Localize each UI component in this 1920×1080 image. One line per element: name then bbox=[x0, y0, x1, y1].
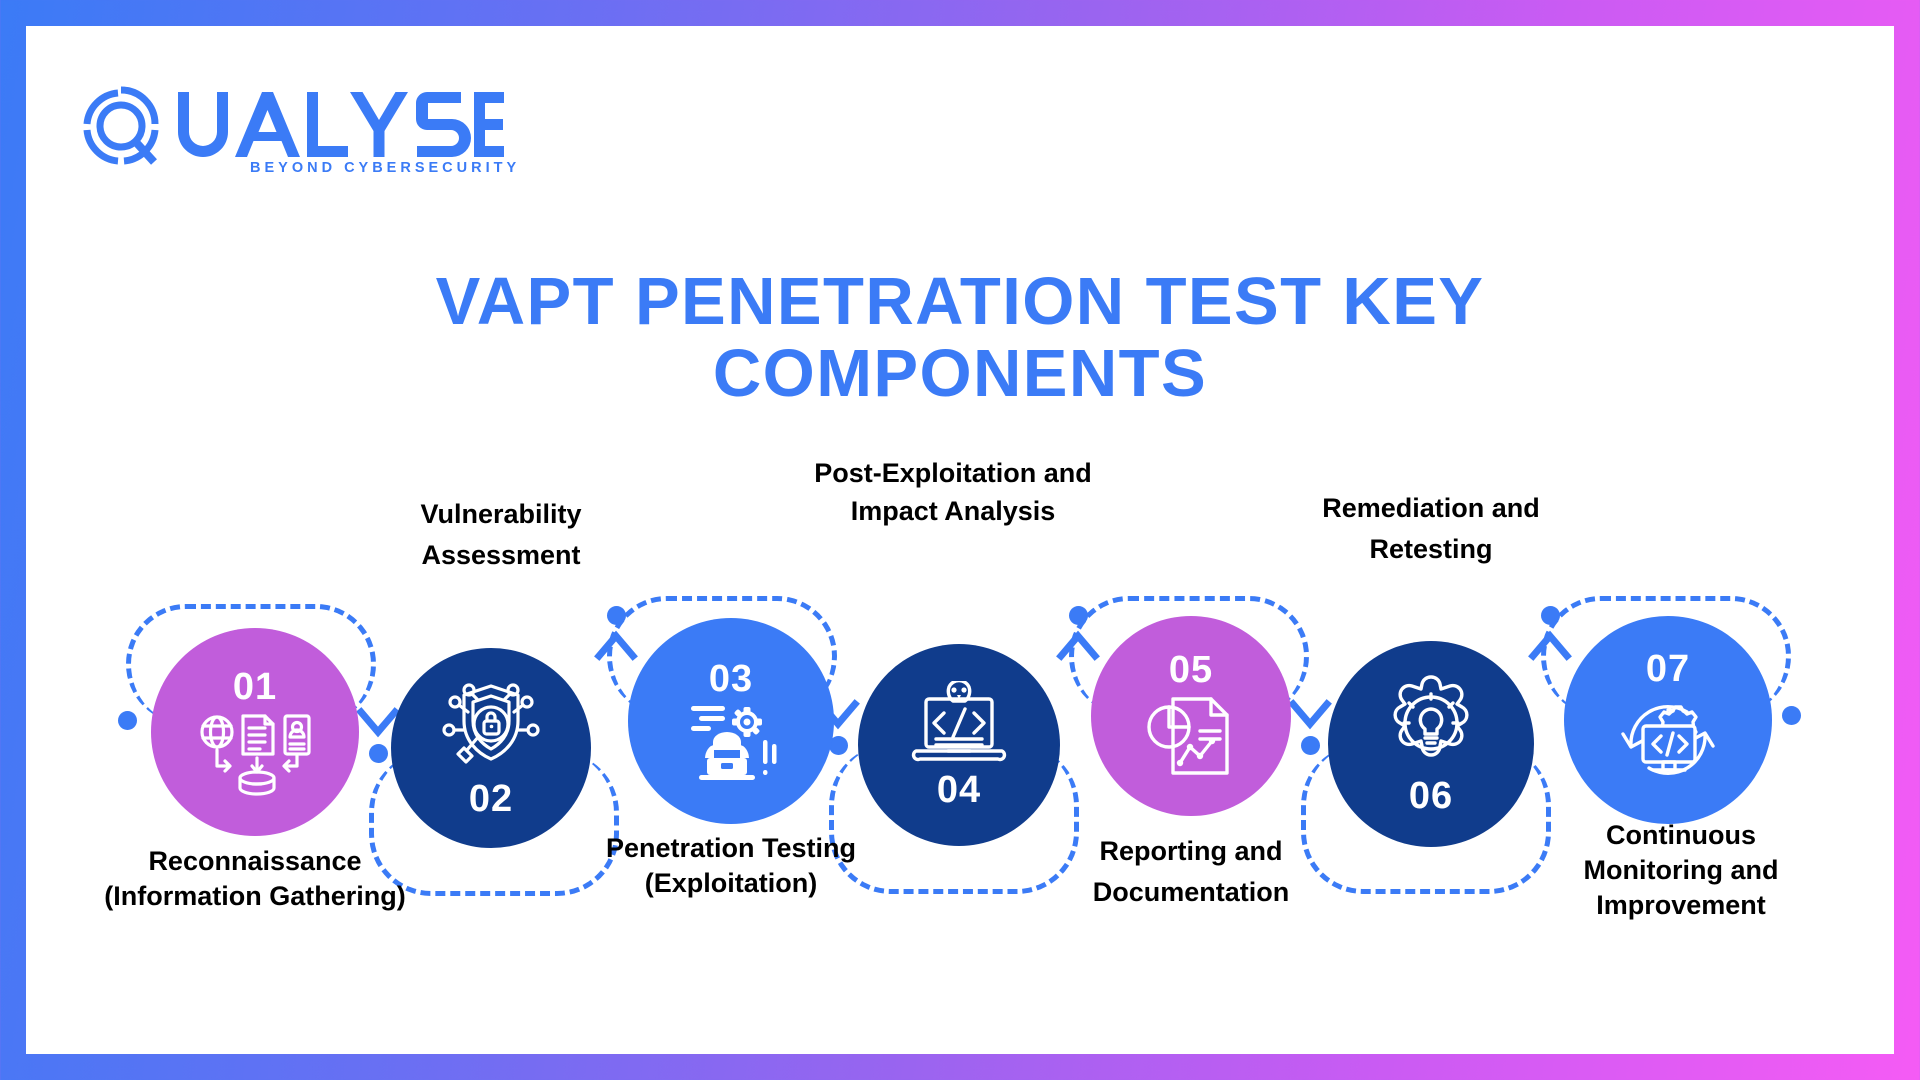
step-06-number: 06 bbox=[1409, 777, 1453, 815]
step-07-number: 07 bbox=[1646, 650, 1690, 688]
step-02-label: Vulnerability Assessment bbox=[366, 494, 636, 575]
step-01-label: Reconnaissance (Information Gathering) bbox=[94, 844, 416, 914]
hacker-laptop-gear-icon bbox=[679, 700, 783, 782]
step-04-bubble[interactable]: 04 bbox=[858, 644, 1060, 846]
content-card: BEYOND CYBERSECURITY VAPT PENETRATION TE… bbox=[26, 26, 1894, 1054]
step-07-label: Continuous Monitoring and Improvement bbox=[1536, 818, 1826, 923]
step-03-bubble[interactable]: 03 bbox=[628, 618, 834, 824]
step-05-bubble[interactable]: 05 bbox=[1091, 616, 1291, 816]
laptop-code-skull-icon bbox=[904, 681, 1014, 767]
page-title-line1: VAPT PENETRATION TEST KEY bbox=[436, 264, 1485, 339]
step-05-number: 05 bbox=[1169, 651, 1213, 689]
step-07-bubble[interactable]: 07 bbox=[1564, 616, 1772, 824]
page-title-line2: COMPONENTS bbox=[26, 338, 1894, 410]
qualysec-q-mark-icon bbox=[78, 84, 164, 175]
logo-tagline: BEYOND CYBERSECURITY bbox=[250, 160, 520, 176]
qualysec-wordmark bbox=[174, 90, 504, 163]
step-02-bubble[interactable]: 02 bbox=[391, 648, 591, 848]
report-chart-document-icon bbox=[1143, 693, 1239, 781]
connector-dot-1b bbox=[369, 744, 388, 763]
connector-dot-7b bbox=[1782, 706, 1801, 725]
shield-lock-magnifier-icon bbox=[439, 678, 543, 774]
connector-dot-1a bbox=[118, 711, 137, 730]
step-01-bubble[interactable]: 01 bbox=[151, 628, 359, 836]
gear-lightbulb-icon bbox=[1379, 673, 1483, 773]
connector-dot-5b bbox=[1301, 736, 1320, 755]
process-flow: 01 bbox=[26, 526, 1920, 1006]
step-01-number: 01 bbox=[233, 668, 277, 706]
step-03-number: 03 bbox=[709, 660, 753, 698]
step-06-label: Remediation and Retesting bbox=[1296, 488, 1566, 569]
monitor-code-refresh-icon bbox=[1613, 690, 1723, 790]
page-title: VAPT PENETRATION TEST KEY COMPONENTS bbox=[26, 266, 1894, 411]
step-05-label: Reporting and Documentation bbox=[1046, 831, 1336, 912]
connector-chevron-5 bbox=[1288, 696, 1332, 741]
qualysec-logo: BEYOND CYBERSECURITY bbox=[78, 84, 508, 176]
step-03-label: Penetration Testing (Exploitation) bbox=[571, 831, 891, 901]
step-02-number: 02 bbox=[469, 780, 513, 818]
step-06-bubble[interactable]: 06 bbox=[1328, 641, 1534, 847]
globe-documents-database-icon bbox=[197, 710, 313, 796]
step-04-number: 04 bbox=[937, 771, 981, 809]
step-04-label: Post-Exploitation and Impact Analysis bbox=[808, 454, 1098, 531]
